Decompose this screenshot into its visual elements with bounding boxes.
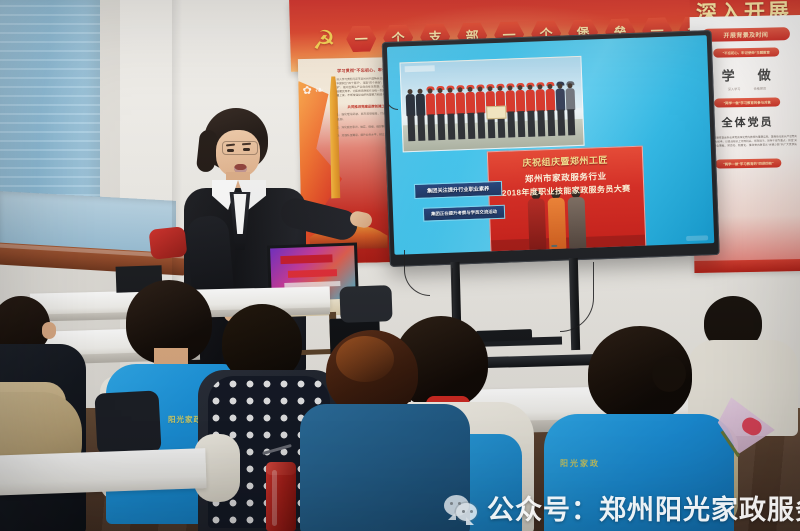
photo-person — [565, 83, 576, 137]
vest-text: 阳光家政 — [560, 458, 680, 469]
poster-right-header: 开展背景及时间 — [702, 27, 790, 42]
award-person — [527, 190, 546, 251]
thermos-highlight — [272, 470, 277, 526]
big-char-zuo: 做 — [757, 65, 771, 84]
big-char-xue: 学 — [721, 65, 735, 84]
list-item — [0, 296, 92, 531]
screenshot-root: ☭ 一 个 支 部 一 个 堡 垒 一 个 党 员 一 面 深入开展 ✿ ❧ 学… — [0, 0, 800, 531]
hair-highlight — [336, 336, 394, 382]
award-person — [547, 190, 566, 251]
award-banner-line-1: 庆祝组庆暨郑州工匠 — [492, 152, 638, 170]
cable — [386, 70, 398, 110]
hair-bun — [652, 356, 686, 392]
tv-power-led — [551, 245, 557, 247]
presenter-eye — [243, 148, 250, 151]
small-label-2: 合格党员 — [753, 86, 766, 91]
desk-row-front-left — [0, 448, 207, 496]
wall-mounted-display[interactable]: 庆祝组庆暨郑州工匠 郑州市家政服务行业 2018年度职业技能家政服务员大赛 集团… — [382, 30, 721, 282]
tv-brand-logo — [686, 235, 708, 241]
attendee-torso — [300, 404, 470, 531]
tv-screen[interactable]: 庆祝组庆暨郑州工匠 郑州市家政服务行业 2018年度职业技能家政服务员大赛 集团… — [387, 35, 714, 255]
poster-right-pill-3: "两学一做"学习教育的"四讲四有" — [715, 158, 781, 168]
poster-right-pill-1: "不忘初心、牢记使命"主题教育 — [713, 47, 779, 57]
presenter-hair-side — [196, 129, 218, 173]
attendee-ear — [42, 322, 56, 339]
award-people — [527, 189, 586, 251]
laptop-slide-band — [288, 269, 337, 278]
list-item: 阳光家政 — [548, 326, 728, 531]
red-thermos-bottle — [266, 466, 296, 531]
thermos-cap — [266, 462, 296, 475]
tv-bezel: 庆祝组庆暨郑州工匠 郑州市家政服务行业 2018年度职业技能家政服务员大赛 集团… — [382, 30, 720, 267]
photo-timestamp — [405, 65, 435, 72]
small-label-1: 深入学习 — [728, 86, 741, 91]
award-person — [567, 189, 586, 250]
laptop-slide-band — [280, 254, 332, 264]
cable — [712, 96, 714, 140]
poster-right-pill-2: "两学一做"学习教育的参与对象 — [714, 97, 780, 107]
party-emblem-icon: ☭ — [312, 24, 343, 55]
red-bag — [149, 226, 188, 260]
attendee-vest — [544, 414, 734, 531]
chair — [94, 390, 161, 455]
eyeglasses-icon — [222, 141, 258, 155]
banner-char: 一 — [346, 25, 377, 52]
presenter-eye — [227, 149, 234, 152]
certificate-prop — [486, 106, 506, 120]
slide-photo-award: 庆祝组庆暨郑州工匠 郑州市家政服务行业 2018年度职业技能家政服务员大赛 — [487, 146, 647, 255]
slide-photo-group — [399, 56, 584, 153]
list-item — [300, 330, 460, 531]
